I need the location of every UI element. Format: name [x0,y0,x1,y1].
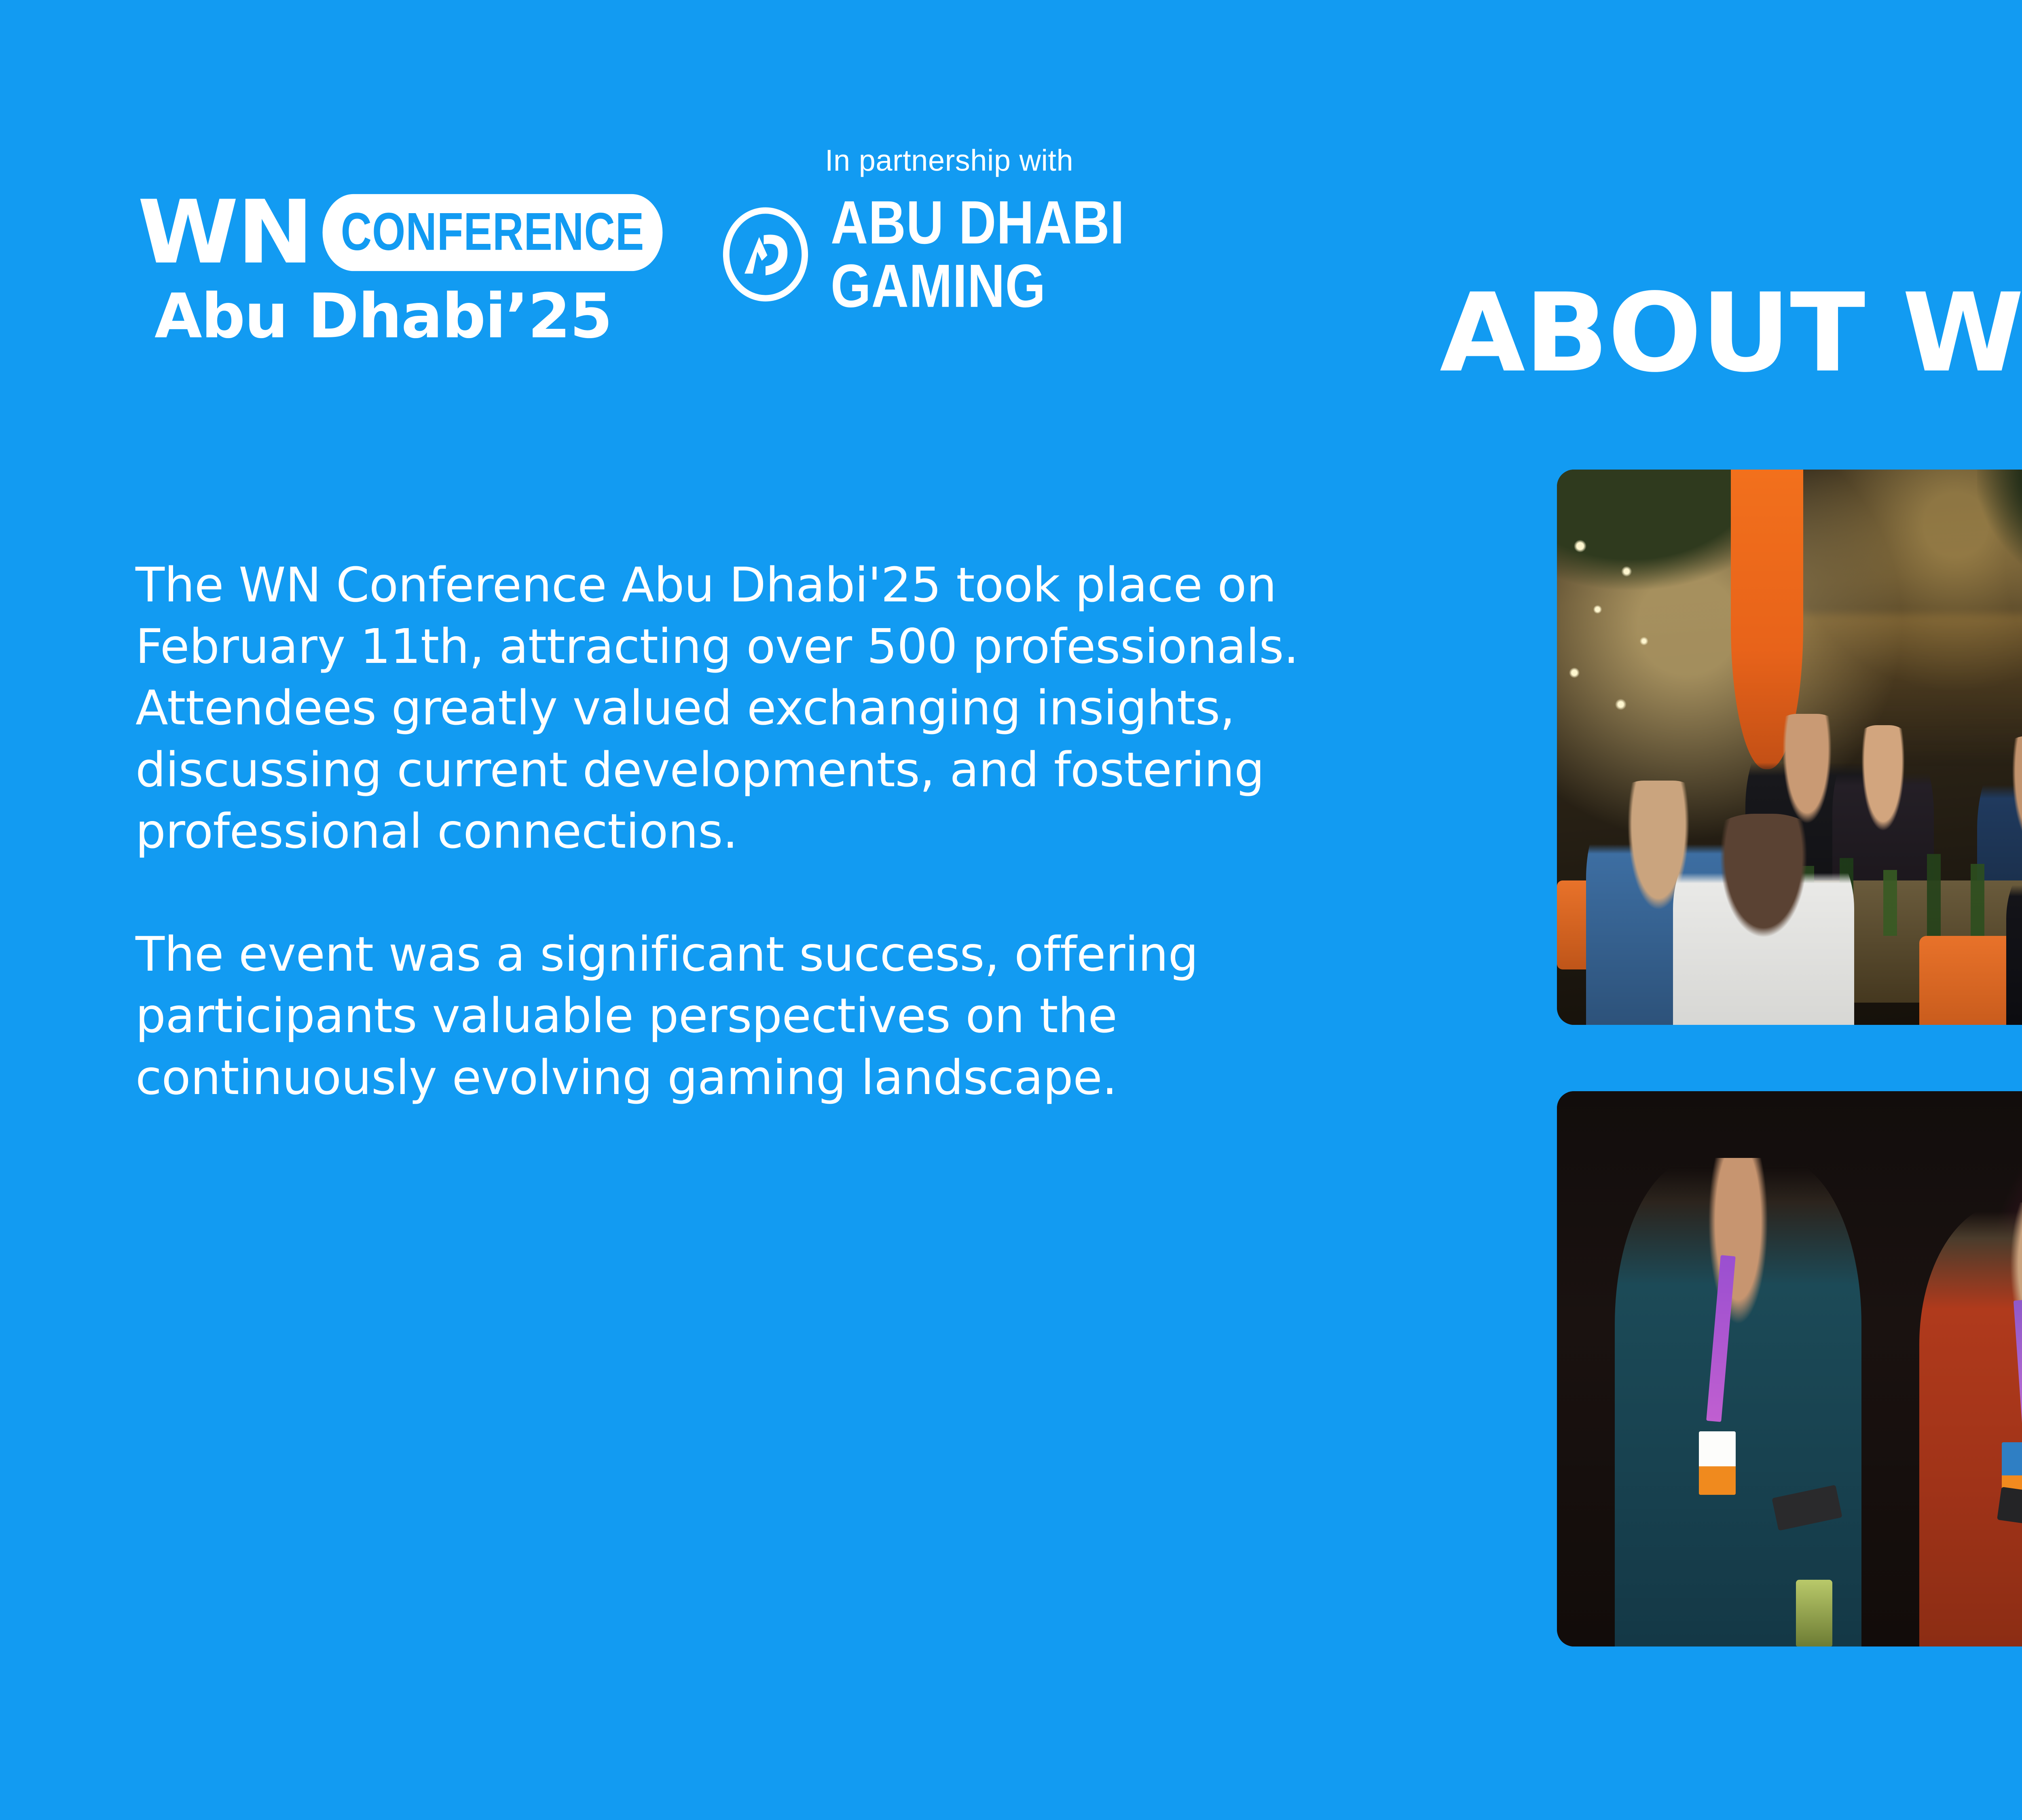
lanyard [2014,1299,2022,1442]
gallery-photo-attendees-phones [1557,1091,2022,1646]
lanyard [1706,1255,1735,1422]
photo-scene [1557,1091,2022,1646]
attendee-figure [1673,814,1854,1025]
attendee-figure [1919,1202,2022,1646]
gallery-photo-networking-dinner [1557,470,2022,1025]
partnership-lockup: In partnership with ABU DHABI GAMING [720,146,1286,308]
wn-logo-edition: Abu Dhabi’25 [154,286,663,347]
abu-dhabi-gaming-line-2: GAMING [831,254,1125,318]
about-description: The WN Conference Abu Dhabi'25 took plac… [135,554,1328,1108]
photo-scene [1557,470,2022,1025]
wn-conference-logo: WN CONFERENCE Abu Dhabi’25 [137,190,663,347]
slide-root: WN CONFERENCE Abu Dhabi’25 In partnershi… [0,0,2022,1820]
abu-dhabi-gaming-wordmark: ABU DHABI GAMING [831,191,1125,318]
palm-foliage-right [1977,470,2022,614]
wn-logo-row-primary: WN CONFERENCE [137,190,663,275]
slide-header: WN CONFERENCE Abu Dhabi’25 In partnershi… [0,0,2022,404]
about-paragraph-2: The event was a significant success, off… [135,923,1328,1108]
attendee-figure [1615,1158,1861,1646]
wn-wordmark: WN [137,197,312,268]
string-lights [1557,525,1673,736]
abu-dhabi-gaming-line-1: ABU DHABI [831,191,1125,254]
drink-bottle [1796,1580,1832,1646]
about-paragraph-1: The WN Conference Abu Dhabi'25 took plac… [135,554,1328,862]
page-title: ABOUT WN CONFERENCE [1440,279,2022,387]
lounge-chair [1919,936,2021,1025]
conference-pill-badge: CONFERENCE [323,194,663,271]
abu-dhabi-gaming-logo: ABU DHABI GAMING [720,201,1286,308]
partnership-label: In partnership with [825,146,1286,176]
ad-monogram-icon [720,204,811,305]
conference-badge [1699,1431,1736,1495]
event-photo-gallery: GRAND OUTLAWS zero to hero GRND [1541,463,2022,1654]
